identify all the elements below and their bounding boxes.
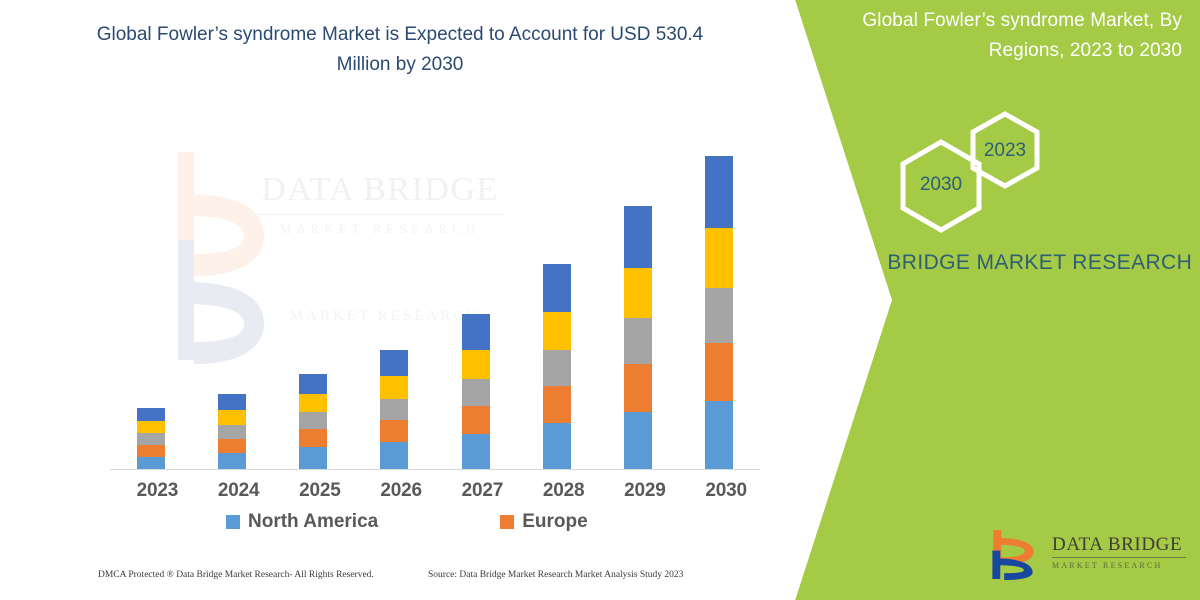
footer: DMCA Protected ® Data Bridge Market Rese… — [0, 566, 790, 590]
bar-segment — [299, 447, 327, 469]
bar-segment — [705, 343, 733, 400]
bar-segment — [462, 379, 490, 406]
bar-segment — [299, 374, 327, 394]
x-axis-tick-label: 2025 — [299, 480, 327, 502]
bar-segment — [462, 314, 490, 350]
dbmr-logo: DATA BRIDGE MARKET RESEARCH — [982, 528, 1186, 582]
bar-segment — [705, 288, 733, 343]
legend-item-label: Europe — [522, 511, 587, 533]
stacked-bar — [218, 394, 246, 469]
chart-legend: North AmericaEurope — [110, 508, 760, 536]
bar-segment — [462, 350, 490, 379]
bar-segment — [218, 425, 246, 439]
x-axis-tick-label: 2027 — [462, 480, 490, 502]
dbmr-logo-icon — [982, 528, 1046, 582]
bar-segment — [624, 412, 652, 469]
right-green-panel: Global Fowler’s syndrome Market, By Regi… — [760, 0, 1200, 600]
chart-plot-area — [0, 140, 790, 470]
bar-segment — [543, 350, 571, 386]
x-axis-tick-label: 2030 — [705, 480, 733, 502]
x-axis-tick-label: 2023 — [137, 480, 165, 502]
stacked-bar — [299, 374, 327, 469]
bar-segment — [299, 394, 327, 412]
bar-segment — [462, 434, 490, 469]
bar-segment — [543, 423, 571, 469]
legend-swatch-icon — [226, 515, 240, 529]
logo-line2: MARKET RESEARCH — [1052, 561, 1186, 570]
legend-item[interactable]: North America — [226, 511, 378, 533]
bar-segment — [543, 264, 571, 313]
bar-segment — [462, 406, 490, 435]
bar-segment — [624, 268, 652, 318]
bar-segment — [543, 386, 571, 423]
logo-line1: DATA BRIDGE — [1052, 534, 1186, 555]
right-panel-brand: DATA BRIDGE MARKET RESEARCH — [760, 248, 1200, 278]
footer-source-note: Source: Data Bridge Market Research Mark… — [428, 570, 683, 580]
bar-segment — [380, 376, 408, 399]
x-axis-tick-label: 2026 — [380, 480, 408, 502]
bar-segment — [380, 399, 408, 420]
bar-segment — [218, 410, 246, 425]
bar-segment — [624, 364, 652, 412]
bar-segment — [705, 228, 733, 288]
bar-segment — [380, 420, 408, 443]
bar-segment — [624, 318, 652, 364]
stacked-bar — [705, 156, 733, 469]
x-axis-line — [110, 469, 760, 470]
x-axis-tick-label: 2024 — [218, 480, 246, 502]
hexagon-badge-2030: 2030 — [893, 138, 989, 234]
bar-segment — [299, 429, 327, 447]
stacked-bar-group — [110, 149, 760, 469]
bar-segment — [543, 312, 571, 350]
right-panel-title: Global Fowler’s syndrome Market, By Regi… — [842, 6, 1182, 66]
legend-swatch-icon — [500, 515, 514, 529]
legend-item[interactable]: Europe — [500, 511, 587, 533]
bar-segment — [137, 421, 165, 433]
bar-segment — [137, 445, 165, 457]
bar-segment — [137, 408, 165, 421]
bar-segment — [380, 350, 408, 376]
page-title: Global Fowler’s syndrome Market is Expec… — [70, 20, 730, 80]
dbmr-logo-text: DATA BRIDGE MARKET RESEARCH — [1052, 534, 1186, 570]
bar-segment — [218, 394, 246, 410]
bar-segment — [218, 453, 246, 469]
x-axis-tick-label: 2029 — [624, 480, 652, 502]
logo-rule — [1052, 557, 1186, 558]
stacked-bar — [462, 314, 490, 469]
stacked-bar — [543, 264, 571, 469]
legend-item-label: North America — [248, 511, 378, 533]
hexagon-badges: 2023 2030 — [865, 110, 1095, 230]
bar-segment — [624, 206, 652, 268]
footer-dmca-notice: DMCA Protected ® Data Bridge Market Rese… — [98, 570, 374, 580]
bar-segment — [380, 442, 408, 469]
bar-segment — [218, 439, 246, 453]
bar-segment — [705, 156, 733, 228]
hexagon-label-2030: 2030 — [893, 174, 989, 196]
x-axis-tick-labels: 20232024202520262027202820292030 — [110, 478, 760, 504]
infographic-root: Global Fowler’s syndrome Market is Expec… — [0, 0, 1200, 600]
stacked-bar — [624, 206, 652, 469]
bar-segment — [137, 457, 165, 469]
stacked-bar — [137, 408, 165, 469]
stacked-bar — [380, 350, 408, 469]
bar-segment — [299, 412, 327, 429]
bar-segment — [705, 401, 733, 469]
bar-segment — [137, 433, 165, 444]
x-axis-tick-label: 2028 — [543, 480, 571, 502]
